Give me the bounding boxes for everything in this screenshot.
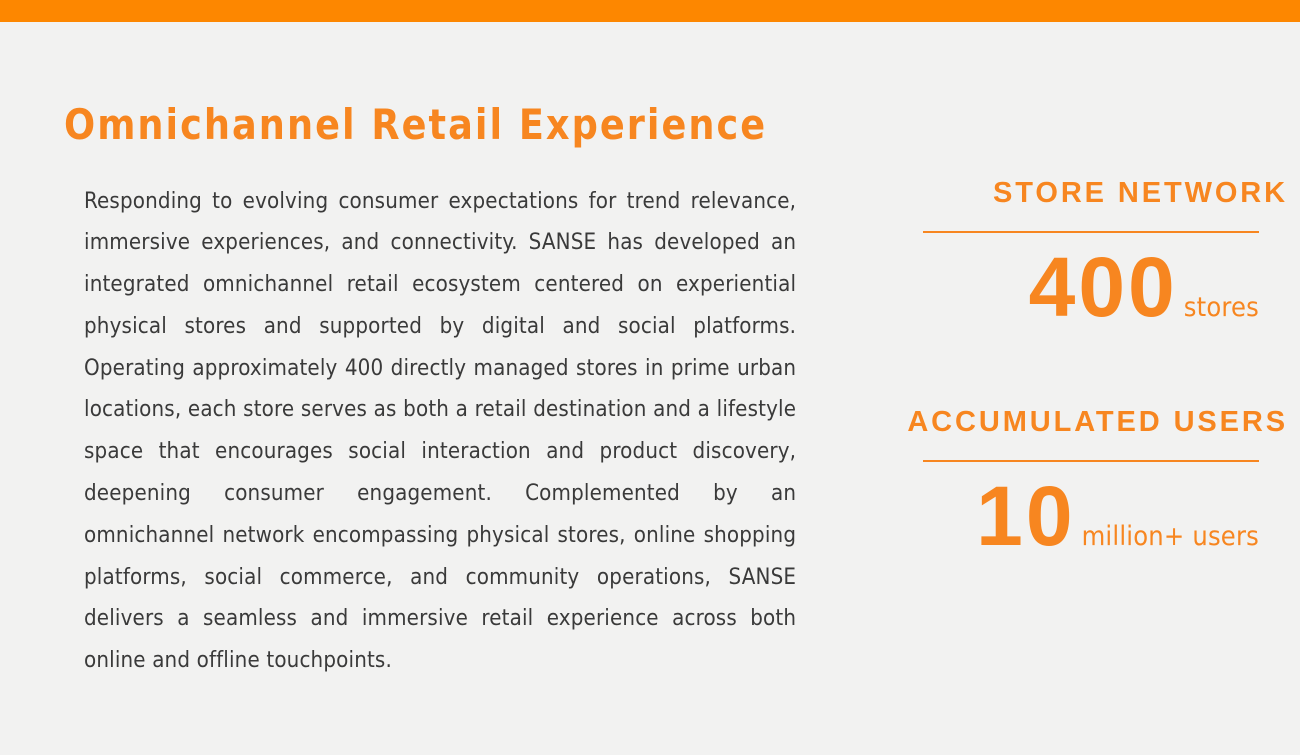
accent-top-bar	[0, 0, 1300, 22]
stat-block-accumulated-users: ACCUMULATED USERS 10million+ users	[868, 405, 1288, 562]
stat-block-store-network: STORE NETWORK 400stores	[868, 176, 1288, 333]
body-paragraph: Responding to evolving consumer expectat…	[84, 181, 796, 683]
stat-label: ACCUMULATED USERS	[868, 405, 1288, 439]
stat-divider	[923, 231, 1259, 233]
stat-value-row: 10million+ users	[868, 470, 1259, 562]
stat-unit: million+ users	[1082, 521, 1259, 552]
stat-value-row: 400stores	[868, 241, 1259, 333]
stat-number: 400	[1029, 240, 1178, 334]
page-title: Omnichannel Retail Experience	[64, 99, 767, 151]
stat-divider	[923, 460, 1259, 462]
stat-label: STORE NETWORK	[868, 176, 1288, 210]
stat-number: 10	[976, 469, 1075, 563]
stat-unit: stores	[1184, 292, 1259, 323]
